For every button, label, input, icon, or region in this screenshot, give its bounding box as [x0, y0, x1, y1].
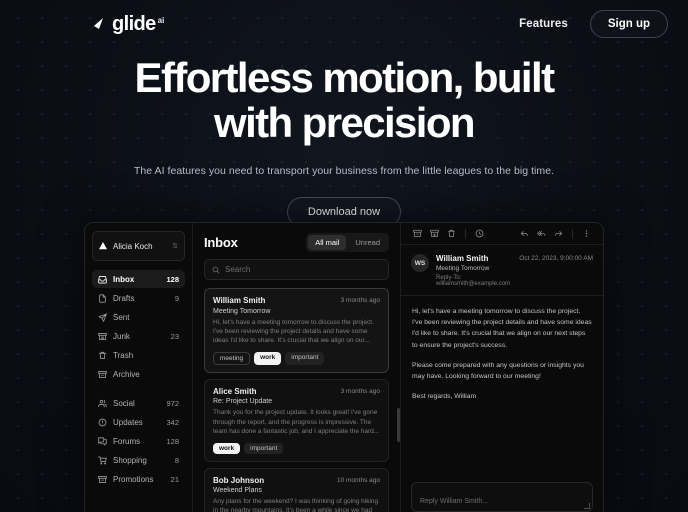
avatar: WS [411, 254, 429, 272]
sidebar-secondary-group: Social972Updates342Forums128Shopping8Pro… [92, 394, 185, 488]
account-avatar-icon [99, 237, 107, 255]
reading-header: WS William Smith Meeting Tomorrow Reply-… [401, 245, 603, 296]
nav-actions: Features Sign up [519, 10, 668, 38]
hero-subtitle: The AI features you need to transport yo… [0, 163, 688, 179]
sender-name: Alice Smith [213, 387, 257, 396]
reply-area: Reply William Smith... [401, 482, 603, 512]
nav-link-features[interactable]: Features [519, 18, 568, 30]
alert-circle-icon [98, 418, 107, 427]
sidebar-item-junk[interactable]: Junk23 [92, 327, 185, 345]
reading-body: Hi, let's have a meeting tomorrow to dis… [401, 296, 603, 482]
sidebar-item-promotions[interactable]: Promotions21 [92, 470, 185, 488]
landing-page: glide ai Features Sign up Effortless mot… [0, 0, 688, 512]
list-item-header: Alice Smith3 months ago [213, 387, 380, 396]
mail-list-scroll-area[interactable]: William Smith3 months agoMeeting Tomorro… [193, 288, 400, 512]
timestamp: 3 months ago [341, 297, 380, 304]
sidebar-item-social[interactable]: Social972 [92, 394, 185, 412]
mail-list-header: Inbox All mailUnread [193, 223, 400, 259]
more-button[interactable] [578, 225, 595, 242]
sidebar-divider [92, 384, 185, 393]
sidebar-item-count: 128 [166, 437, 179, 446]
mail-list-scrollbar[interactable] [397, 408, 400, 442]
inbox-icon [98, 275, 107, 284]
mail-subject: Meeting Tomorrow [213, 308, 380, 315]
list-item-header: William Smith3 months ago [213, 296, 380, 305]
reading-meta: William Smith Meeting Tomorrow Reply-To:… [436, 254, 512, 287]
archive-icon [98, 370, 107, 379]
sidebar-primary-group: Inbox128Drafts9SentJunk23TrashArchive [92, 270, 185, 383]
list-item-header: Bob Johnson10 months ago [213, 476, 380, 485]
hero-section: Effortless motion, built with precision … [0, 55, 688, 227]
archive-x-icon [98, 332, 107, 341]
mail-tags: meetingworkimportant [213, 352, 380, 365]
trash-icon [98, 351, 107, 360]
sidebar-item-label: Shopping [113, 456, 169, 465]
inbox-icon [98, 275, 107, 284]
toolbar-divider [465, 229, 466, 239]
search-input[interactable]: Search [204, 259, 389, 280]
search-area: Search [193, 259, 400, 288]
tag-work[interactable]: work [213, 443, 240, 454]
sender-name: Bob Johnson [213, 476, 264, 485]
trash-button[interactable] [443, 225, 460, 242]
reply-to-address: Reply-To: williamsmith@example.com [436, 275, 512, 287]
account-name: Alicia Koch [113, 242, 166, 251]
forward-button[interactable] [550, 225, 567, 242]
archive-icon [98, 475, 107, 484]
sidebar-item-label: Trash [113, 351, 173, 360]
mail-preview: Hi, let's have a meeting tomorrow to dis… [213, 318, 380, 346]
sidebar-item-label: Sent [113, 313, 173, 322]
body-paragraph: Hi, let's have a meeting tomorrow to dis… [412, 306, 592, 351]
send-icon [98, 313, 107, 322]
body-paragraph: Please come prepared with any questions … [412, 360, 592, 382]
hero-title-line-1: Effortless motion, built [135, 54, 554, 101]
timestamp: 3 months ago [341, 388, 380, 395]
account-switcher[interactable]: Alicia Koch ⇅ [92, 231, 185, 261]
tag-meeting[interactable]: meeting [213, 352, 250, 365]
sidebar-item-count: 21 [171, 475, 179, 484]
timestamp: 10 months ago [337, 477, 380, 484]
sidebar-item-count: 8 [175, 456, 179, 465]
shopping-cart-icon [98, 456, 107, 465]
message-square-icon [98, 437, 107, 446]
sidebar-item-shopping[interactable]: Shopping8 [92, 451, 185, 469]
sidebar-item-count: 972 [166, 399, 179, 408]
snooze-button[interactable] [471, 225, 488, 242]
sidebar-item-label: Updates [113, 418, 160, 427]
sidebar-item-drafts[interactable]: Drafts9 [92, 289, 185, 307]
sidebar-item-label: Promotions [113, 475, 165, 484]
sidebar-item-label: Junk [113, 332, 165, 341]
archive-icon [98, 475, 107, 484]
resize-grip-icon[interactable] [584, 503, 590, 509]
email-app-window: Alicia Koch ⇅ Inbox128Drafts9SentJunk23T… [84, 222, 604, 512]
sidebar-item-label: Inbox [113, 275, 160, 284]
hero-title: Effortless motion, built with precision [0, 55, 688, 146]
reply-button[interactable] [516, 225, 533, 242]
junk-button[interactable] [426, 225, 443, 242]
archive-icon [98, 370, 107, 379]
mail-preview: Any plans for the weekend? I was thinkin… [213, 497, 380, 512]
mail-tags: workimportant [213, 443, 380, 454]
mail-preview: Thank you for the project update. It loo… [213, 408, 380, 436]
shopping-cart-icon [98, 456, 107, 465]
logo-superscript: ai [158, 16, 165, 25]
mail-subject: Weekend Plans [213, 487, 380, 494]
sender-name: William Smith [436, 254, 512, 263]
logo-wordmark: glide [112, 14, 156, 34]
users-icon [98, 399, 107, 408]
sidebar-item-forums[interactable]: Forums128 [92, 432, 185, 450]
sidebar-item-label: Social [113, 399, 160, 408]
sidebar-item-inbox[interactable]: Inbox128 [92, 270, 185, 288]
send-icon [98, 313, 107, 322]
sidebar-item-trash[interactable]: Trash [92, 346, 185, 364]
reply-textarea[interactable]: Reply William Smith... [411, 482, 593, 512]
app-sidebar: Alicia Koch ⇅ Inbox128Drafts9SentJunk23T… [85, 223, 193, 512]
sidebar-item-count: 128 [166, 275, 179, 284]
message-square-icon [98, 437, 107, 446]
sidebar-item-updates[interactable]: Updates342 [92, 413, 185, 431]
brand-logo[interactable]: glide ai [86, 14, 164, 34]
tag-important[interactable]: important [285, 352, 324, 365]
list-item[interactable]: William Smith3 months agoMeeting Tomorro… [204, 288, 389, 373]
hero-title-line-2: with precision [0, 100, 688, 145]
alert-circle-icon [98, 418, 107, 427]
list-item[interactable]: Bob Johnson10 months agoWeekend PlansAny… [204, 468, 389, 512]
file-icon [98, 294, 107, 303]
mail-filter-tabs: All mailUnread [306, 233, 389, 252]
mail-subject: Meeting Tomorrow [436, 265, 512, 272]
sidebar-item-sent[interactable]: Sent [92, 308, 185, 326]
sidebar-item-label: Forums [113, 437, 160, 446]
tab-unread[interactable]: Unread [348, 235, 387, 250]
sidebar-item-archive[interactable]: Archive [92, 365, 185, 383]
archive-x-icon [98, 332, 107, 341]
tab-all-mail[interactable]: All mail [308, 235, 346, 250]
sender-name: William Smith [213, 296, 265, 305]
mail-date: Oct 22, 2023, 9:00:00 AM [519, 254, 593, 287]
users-icon [98, 399, 107, 408]
search-icon [212, 266, 220, 274]
archive-button[interactable] [409, 225, 426, 242]
sidebar-item-count: 342 [166, 418, 179, 427]
mail-list-column: Inbox All mailUnread Search William Smit… [193, 223, 401, 512]
tag-important[interactable]: important [244, 443, 283, 454]
trash-icon [98, 351, 107, 360]
sidebar-item-count: 23 [171, 332, 179, 341]
sidebar-item-label: Drafts [113, 294, 169, 303]
reply-all-button[interactable] [533, 225, 550, 242]
tag-work[interactable]: work [254, 352, 281, 365]
reading-toolbar [401, 223, 603, 245]
mail-subject: Re: Project Update [213, 398, 380, 405]
signup-button[interactable]: Sign up [590, 10, 668, 38]
list-item[interactable]: Alice Smith3 months agoRe: Project Updat… [204, 379, 389, 462]
glide-logo-icon [86, 17, 106, 34]
body-paragraph: Best regards, William [412, 391, 592, 402]
top-navigation: glide ai Features Sign up [0, 0, 688, 48]
search-placeholder: Search [225, 265, 250, 274]
sidebar-item-count: 9 [175, 294, 179, 303]
file-icon [98, 294, 107, 303]
mail-list-title: Inbox [204, 235, 238, 250]
reply-placeholder: Reply William Smith... [420, 498, 488, 505]
sidebar-item-label: Archive [113, 370, 173, 379]
reading-pane: WS William Smith Meeting Tomorrow Reply-… [401, 223, 603, 512]
chevron-up-down-icon: ⇅ [172, 243, 178, 250]
toolbar-divider-2 [572, 229, 573, 239]
